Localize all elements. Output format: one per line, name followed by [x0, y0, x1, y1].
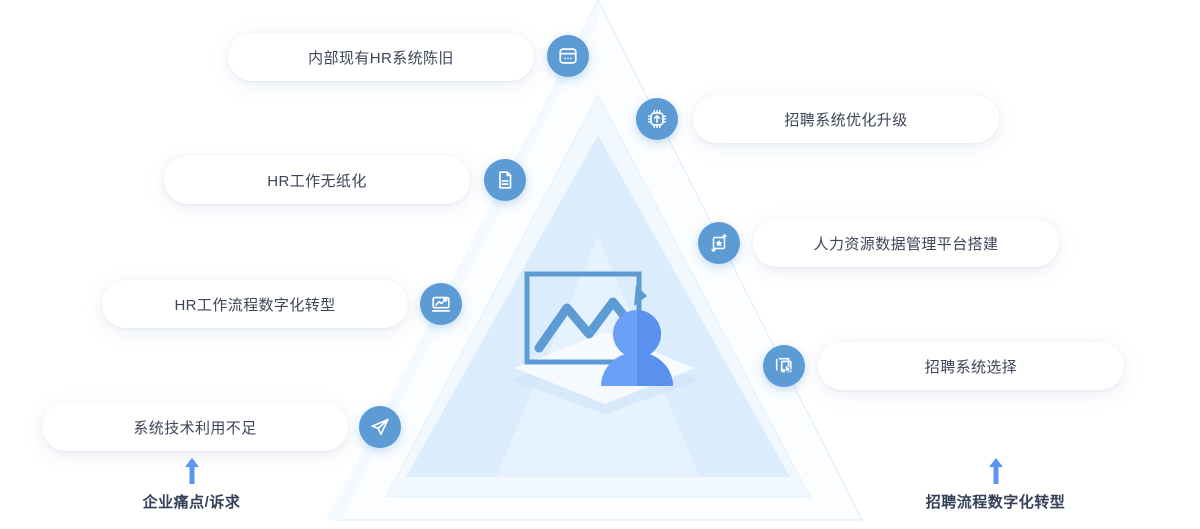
- pill-right-2-label: 人力资源数据管理平台搭建: [814, 233, 999, 254]
- browser-window-icon[interactable]: [547, 35, 589, 77]
- pill-left-2[interactable]: HR工作无纸化: [164, 156, 470, 204]
- pill-right-1[interactable]: 招聘系统优化升级: [693, 95, 999, 143]
- pointer-stick: [634, 285, 647, 306]
- person-body: [601, 352, 673, 386]
- pill-right-2[interactable]: 人力资源数据管理平台搭建: [753, 219, 1059, 267]
- trend-line: [539, 302, 629, 348]
- pill-right-3-label: 招聘系统选择: [925, 356, 1017, 377]
- pill-right-1-label: 招聘系统优化升级: [784, 109, 907, 130]
- person-head-shade: [637, 310, 661, 358]
- pill-left-3-label: HR工作流程数字化转型: [174, 294, 335, 315]
- pill-left-1-label: 内部现有HR系统陈旧: [308, 47, 454, 68]
- pill-left-3[interactable]: HR工作流程数字化转型: [102, 280, 408, 328]
- pill-left-2-label: HR工作无纸化: [267, 170, 366, 191]
- chart-board: [527, 274, 639, 362]
- infographic-canvas: 内部现有HR系统陈旧 HR工作无纸化 HR工作流程数字化转型: [0, 0, 1200, 529]
- axis-right: 招聘流程数字化转型: [908, 458, 1083, 512]
- platform-shadow: [510, 344, 700, 414]
- presentation-person-illustration: [495, 262, 715, 422]
- pill-right-3[interactable]: 招聘系统选择: [818, 342, 1124, 390]
- paper-plane-icon[interactable]: [359, 406, 401, 448]
- axis-left: 企业痛点/诉求: [104, 458, 279, 512]
- person-head: [613, 310, 661, 358]
- pill-left-1[interactable]: 内部现有HR系统陈旧: [228, 33, 534, 81]
- document-icon[interactable]: [484, 159, 526, 201]
- arrow-up-icon: [184, 458, 200, 484]
- star-refresh-icon[interactable]: [698, 222, 740, 264]
- axis-right-label: 招聘流程数字化转型: [926, 491, 1066, 512]
- arrow-up-icon: [988, 458, 1004, 484]
- axis-left-label: 企业痛点/诉求: [143, 491, 241, 512]
- chip-upgrade-icon[interactable]: [636, 98, 678, 140]
- pill-left-4[interactable]: 系统技术利用不足: [42, 403, 348, 451]
- stacked-cards-cursor-icon[interactable]: [763, 345, 805, 387]
- triangle-highlight: [496, 236, 700, 477]
- person-body-shade: [637, 352, 673, 386]
- platform-base: [515, 332, 695, 404]
- monitor-chart-icon[interactable]: [420, 283, 462, 325]
- pill-left-4-label: 系统技术利用不足: [133, 417, 256, 438]
